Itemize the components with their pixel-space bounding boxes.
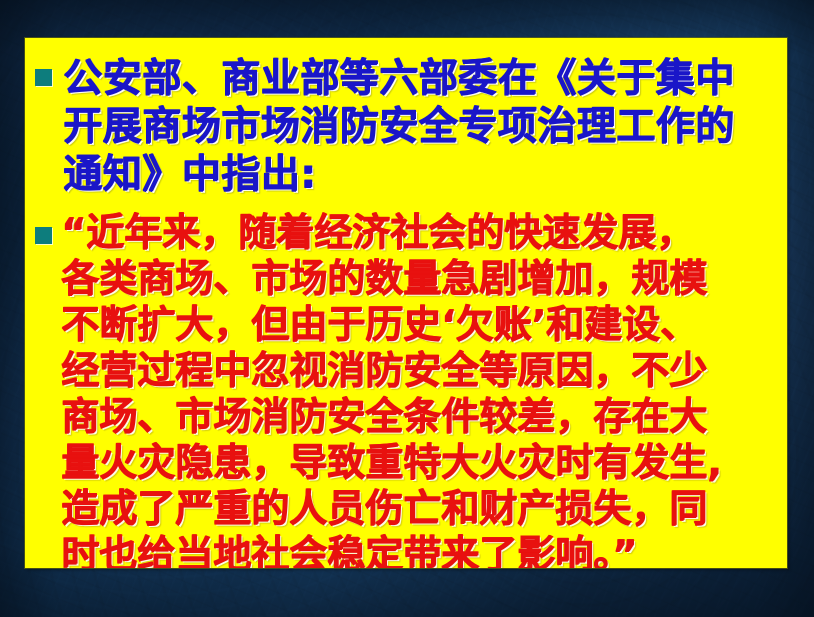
content-panel: 公安部、商业部等六部委在《关于集中 开展商场市场消防安全专项治理工作的 通知》中… (25, 38, 787, 568)
quote-line-7: 造成了严重的人员伤亡和财产损失，同 (61, 485, 787, 531)
quote-line-2: 各类商场、市场的数量急剧增加，规模 (61, 255, 787, 301)
quote-line-6: 量火灾隐患，导致重特大火灾时有发生, (61, 439, 787, 485)
notice-line-2: 开展商场市场消防安全专项治理工作的 (63, 103, 787, 151)
bullet-block-quote: “近年来，随着经济社会的快速发展， 各类商场、市场的数量急剧增加，规模 不断扩大… (25, 199, 787, 568)
quote-line-1: “近年来，随着经济社会的快速发展， (61, 209, 787, 255)
quote-line-3: 不断扩大，但由于历史‘欠账’和建设、 (61, 301, 787, 347)
slide-canvas: 公安部、商业部等六部委在《关于集中 开展商场市场消防安全专项治理工作的 通知》中… (0, 0, 814, 617)
square-bullet-icon (35, 227, 52, 244)
notice-line-3: 通知》中指出: (63, 151, 787, 199)
bullet-body-quote: “近年来，随着经济社会的快速发展， 各类商场、市场的数量急剧增加，规模 不断扩大… (61, 209, 787, 568)
quote-line-4: 经营过程中忽视消防安全等原因，不少 (61, 347, 787, 393)
quote-line-8: 时也给当地社会稳定带来了影响。” (61, 531, 787, 568)
square-bullet-icon (35, 69, 52, 86)
bullet-block-notice: 公安部、商业部等六部委在《关于集中 开展商场市场消防安全专项治理工作的 通知》中… (25, 38, 787, 199)
notice-line-1: 公安部、商业部等六部委在《关于集中 (63, 55, 787, 103)
quote-line-5: 商场、市场消防安全条件较差，存在大 (61, 393, 787, 439)
bullet-body-notice: 公安部、商业部等六部委在《关于集中 开展商场市场消防安全专项治理工作的 通知》中… (63, 55, 787, 199)
